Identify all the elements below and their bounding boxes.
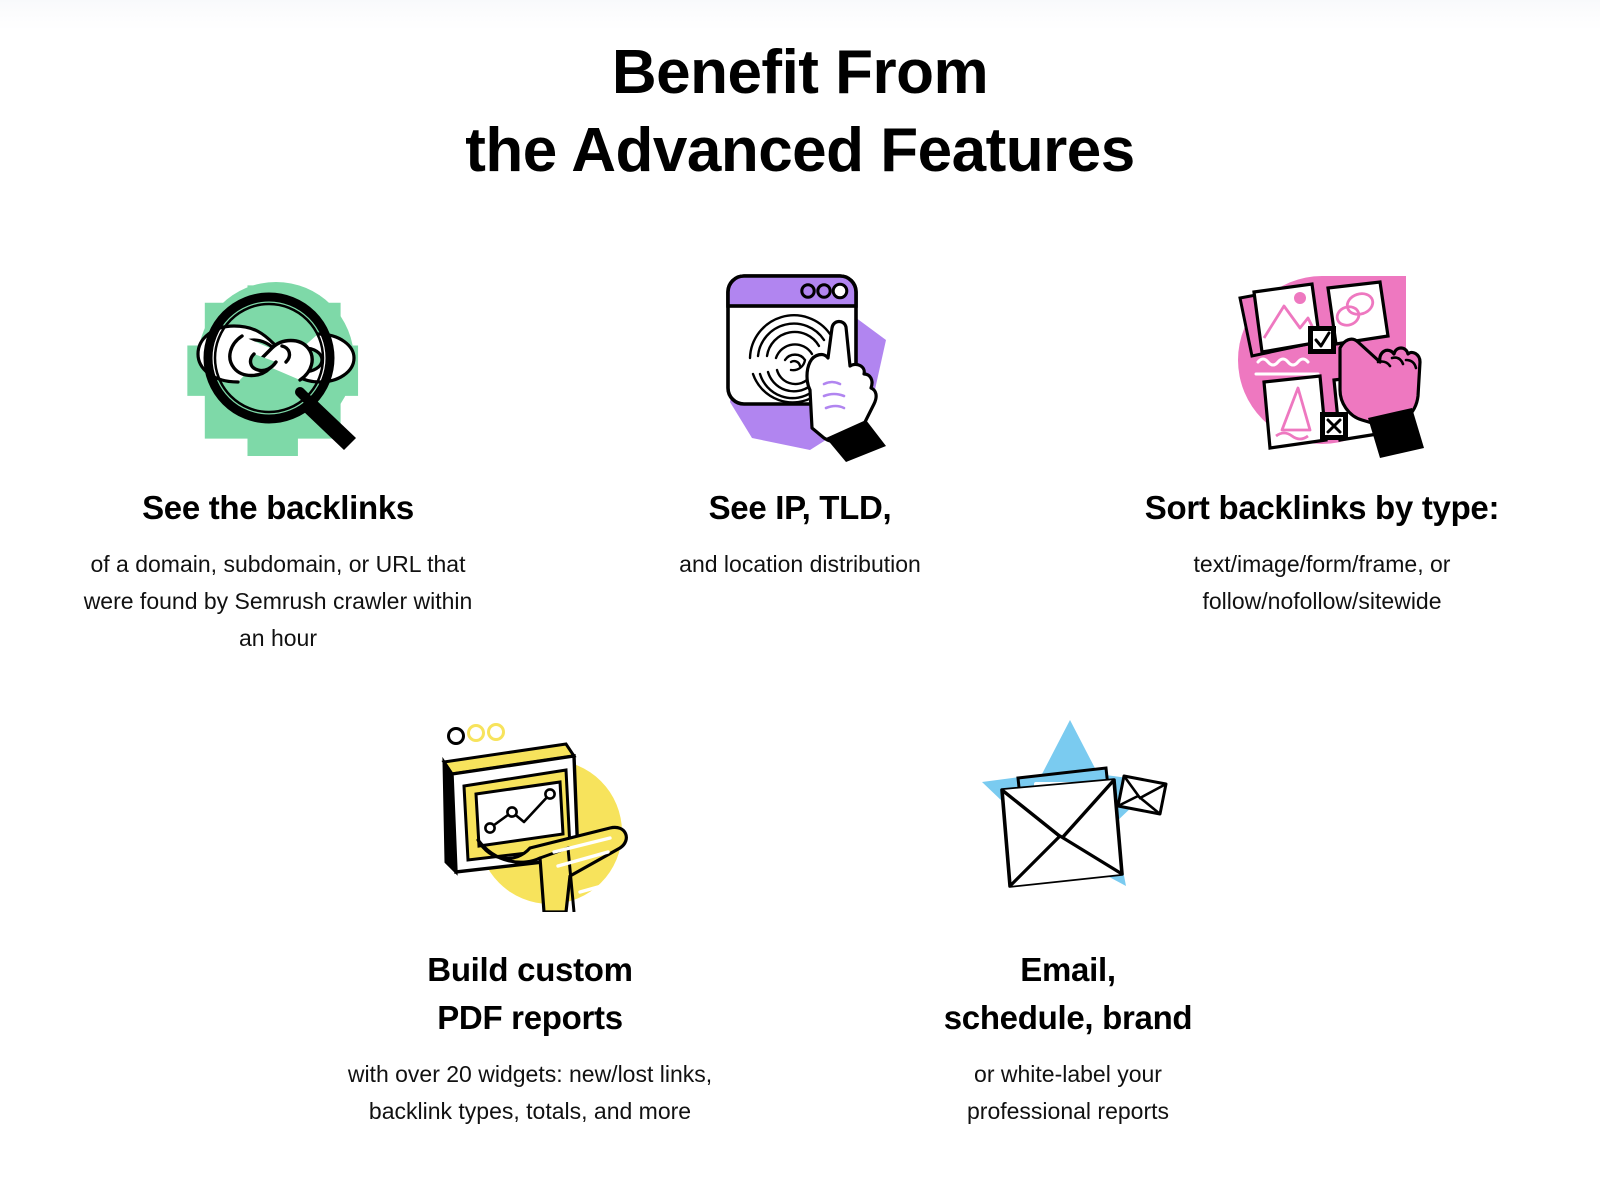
- printer-chart-report-icon: [420, 712, 640, 912]
- feature-description: with over 20 widgets: new/lost links, ba…: [348, 1056, 712, 1130]
- feature-title: Build custom PDF reports: [427, 946, 632, 1042]
- feature-card-build-custom-pdf-reports: Build custom PDF reports with over 20 wi…: [270, 712, 790, 1130]
- feature-description: text/image/form/frame, or follow/nofollo…: [1194, 546, 1451, 620]
- features-page: Benefit From the Advanced Features: [0, 0, 1600, 1197]
- feature-card-email-schedule-brand: Email, schedule, brand or white-label yo…: [808, 712, 1328, 1130]
- feature-card-see-the-backlinks: See the backlinks of a domain, subdomain…: [18, 262, 538, 657]
- feature-description: and location distribution: [679, 546, 921, 583]
- envelope-letter-star-icon: [958, 712, 1178, 912]
- feature-title: Sort backlinks by type:: [1145, 484, 1499, 532]
- browser-fingerprint-hand-icon: [690, 262, 910, 462]
- cards-select-hand-icon: [1212, 262, 1432, 462]
- magnifier-chain-link-icon: [168, 262, 388, 462]
- feature-card-see-ip-tld: See IP, TLD, and location distribution: [540, 262, 1060, 657]
- feature-description: or white-label your professional reports: [967, 1056, 1169, 1130]
- feature-card-sort-backlinks-by-type: Sort backlinks by type: text/image/form/…: [1062, 262, 1582, 657]
- feature-title: Email, schedule, brand: [944, 946, 1193, 1042]
- page-title: Benefit From the Advanced Features: [0, 34, 1600, 190]
- features-row-top: See the backlinks of a domain, subdomain…: [0, 262, 1600, 657]
- feature-title: See IP, TLD,: [709, 484, 892, 532]
- feature-title: See the backlinks: [142, 484, 414, 532]
- feature-description: of a domain, subdomain, or URL that were…: [84, 546, 473, 657]
- features-row-bottom: Build custom PDF reports with over 20 wi…: [0, 712, 1600, 1130]
